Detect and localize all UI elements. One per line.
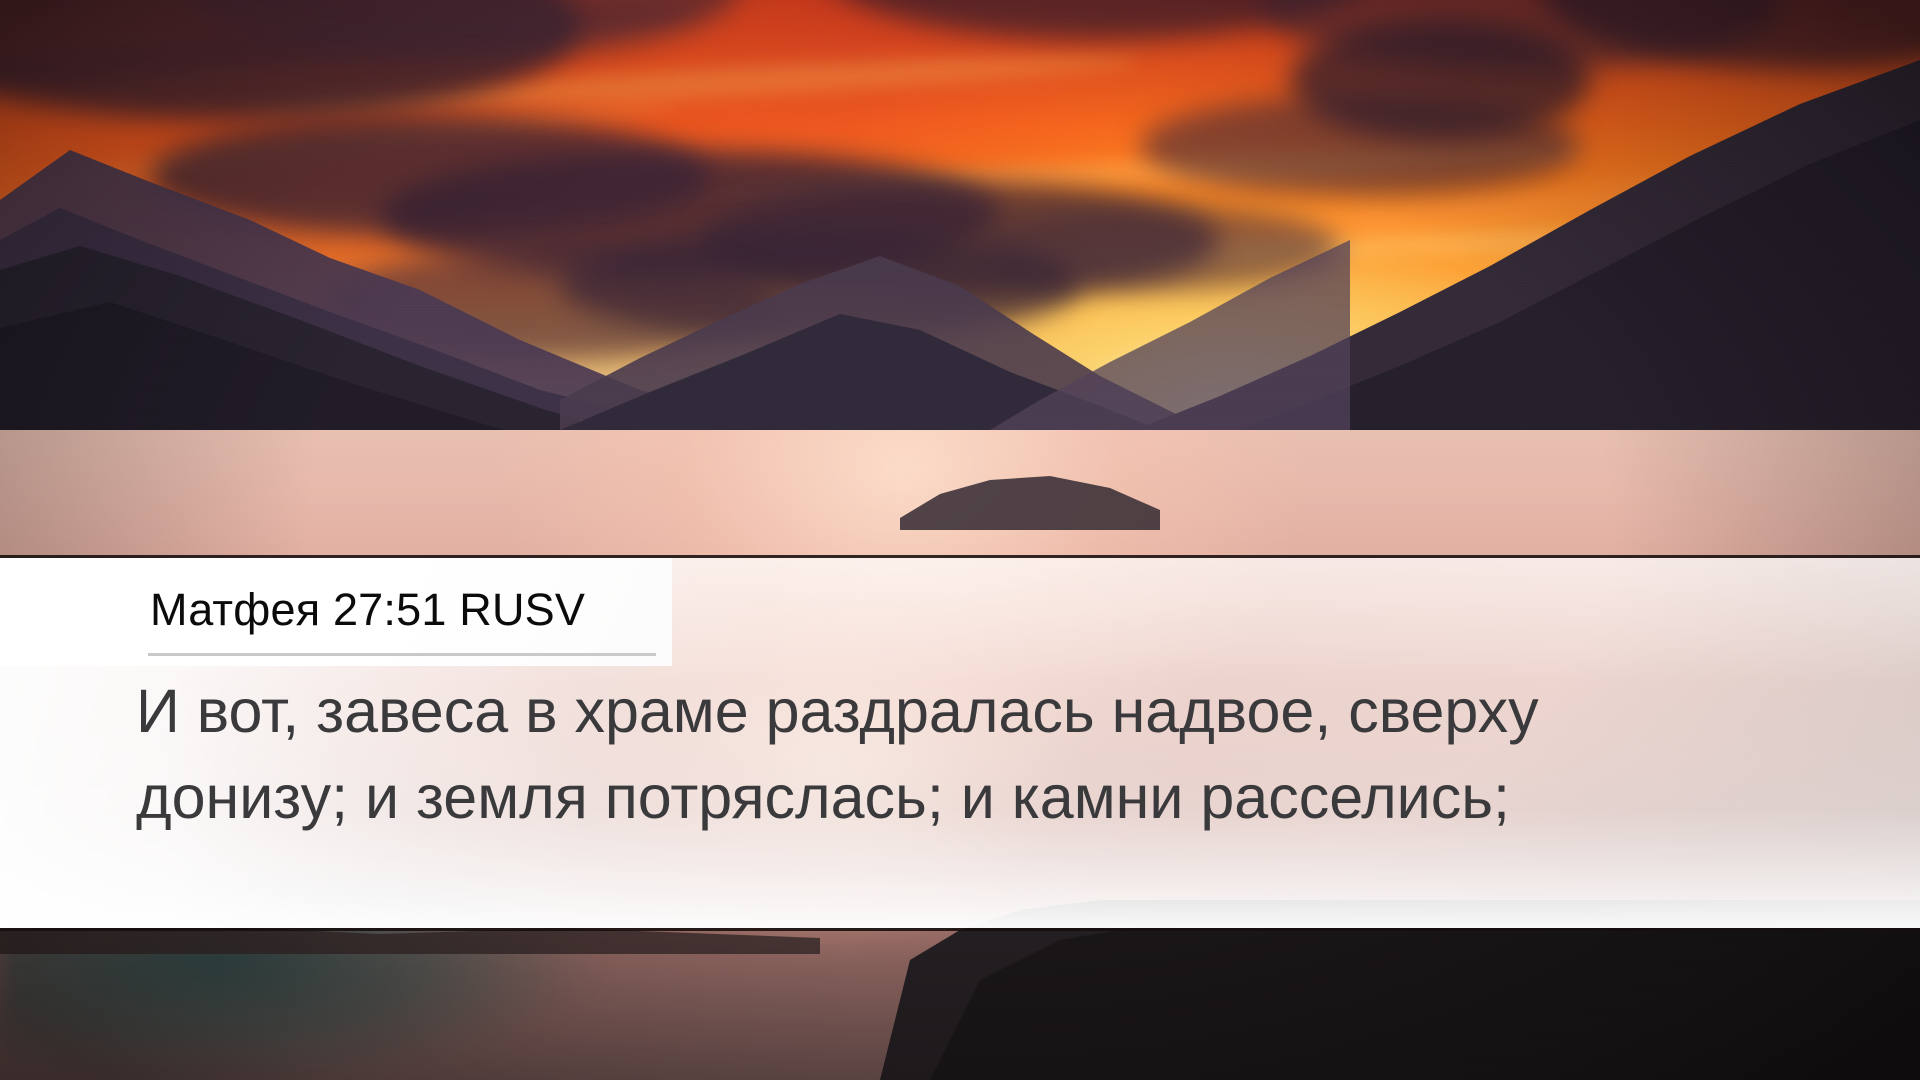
verse-text-line: донизу; и земля потряслась; и камни расс… [136, 754, 1836, 840]
verse-reference: Матфея 27:51 RUSV [150, 582, 585, 638]
verse-image-canvas: Матфея 27:51 RUSV И вот, завеса в храме … [0, 0, 1920, 1080]
verse-overlay-band: Матфея 27:51 RUSV И вот, завеса в храме … [0, 555, 1920, 931]
verse-text-line: И вот, завеса в храме раздралась надвое,… [136, 668, 1836, 754]
sunset-sky [0, 0, 1920, 470]
reference-underline [148, 653, 656, 656]
verse-text: И вот, завеса в храме раздралась надвое,… [136, 668, 1836, 840]
verse-content: Матфея 27:51 RUSV И вот, завеса в храме … [0, 558, 1920, 928]
